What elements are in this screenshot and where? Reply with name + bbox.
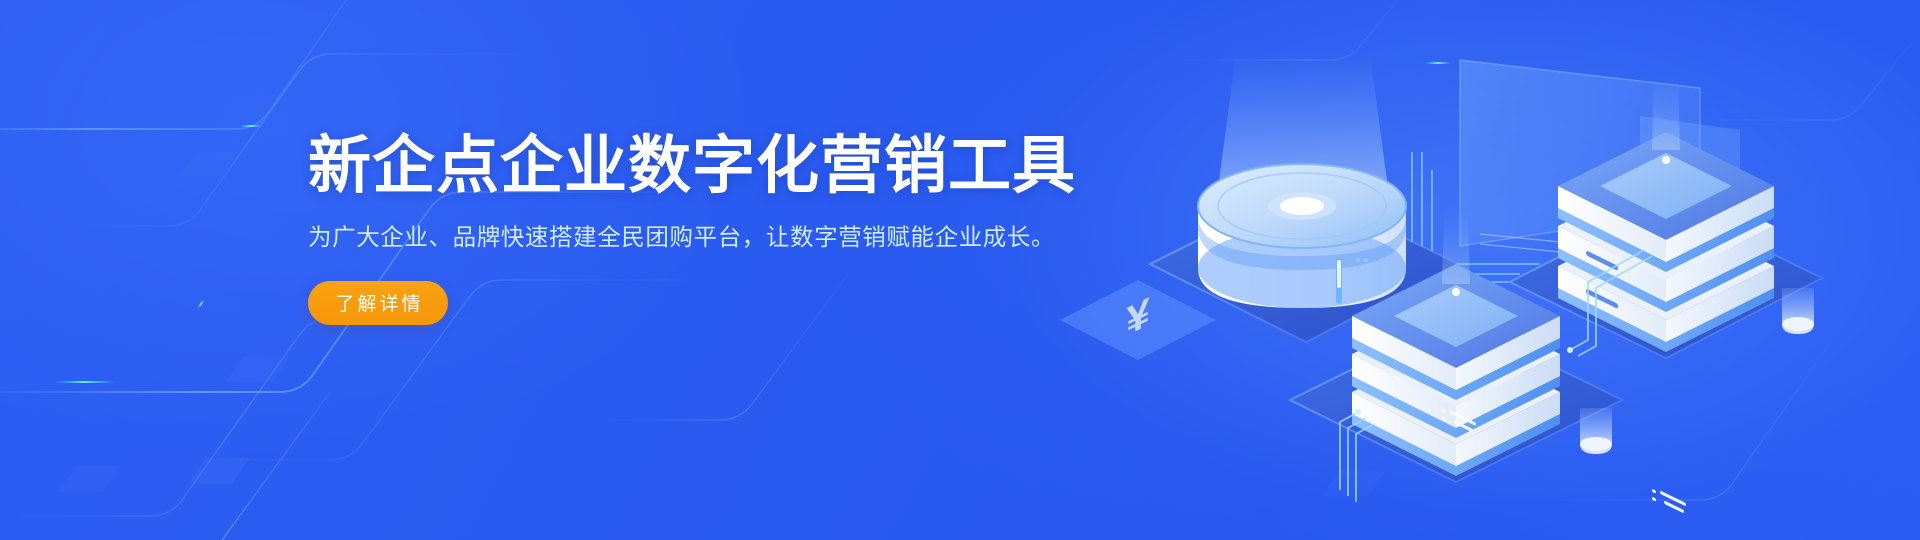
hero-text-block: 新企点企业数字化营销工具 为广大企业、品牌快速搭建全民团购平台，让数字营销赋能企… <box>308 132 1008 325</box>
promo-banner: ¥ 新企点企业数字化营销工具 为广大企业、品牌快速搭建全民团购平台，让数字营销赋… <box>0 0 1920 540</box>
hero-illustration: ¥ <box>1040 20 1600 440</box>
learn-more-button[interactable]: 了解详情 <box>308 281 448 325</box>
currency-tile-icon: ¥ <box>1060 280 1216 360</box>
page-title: 新企点企业数字化营销工具 <box>308 132 1008 200</box>
page-subtitle: 为广大企业、品牌快速搭建全民团购平台，让数字营销赋能企业成长。 <box>308 221 1008 254</box>
